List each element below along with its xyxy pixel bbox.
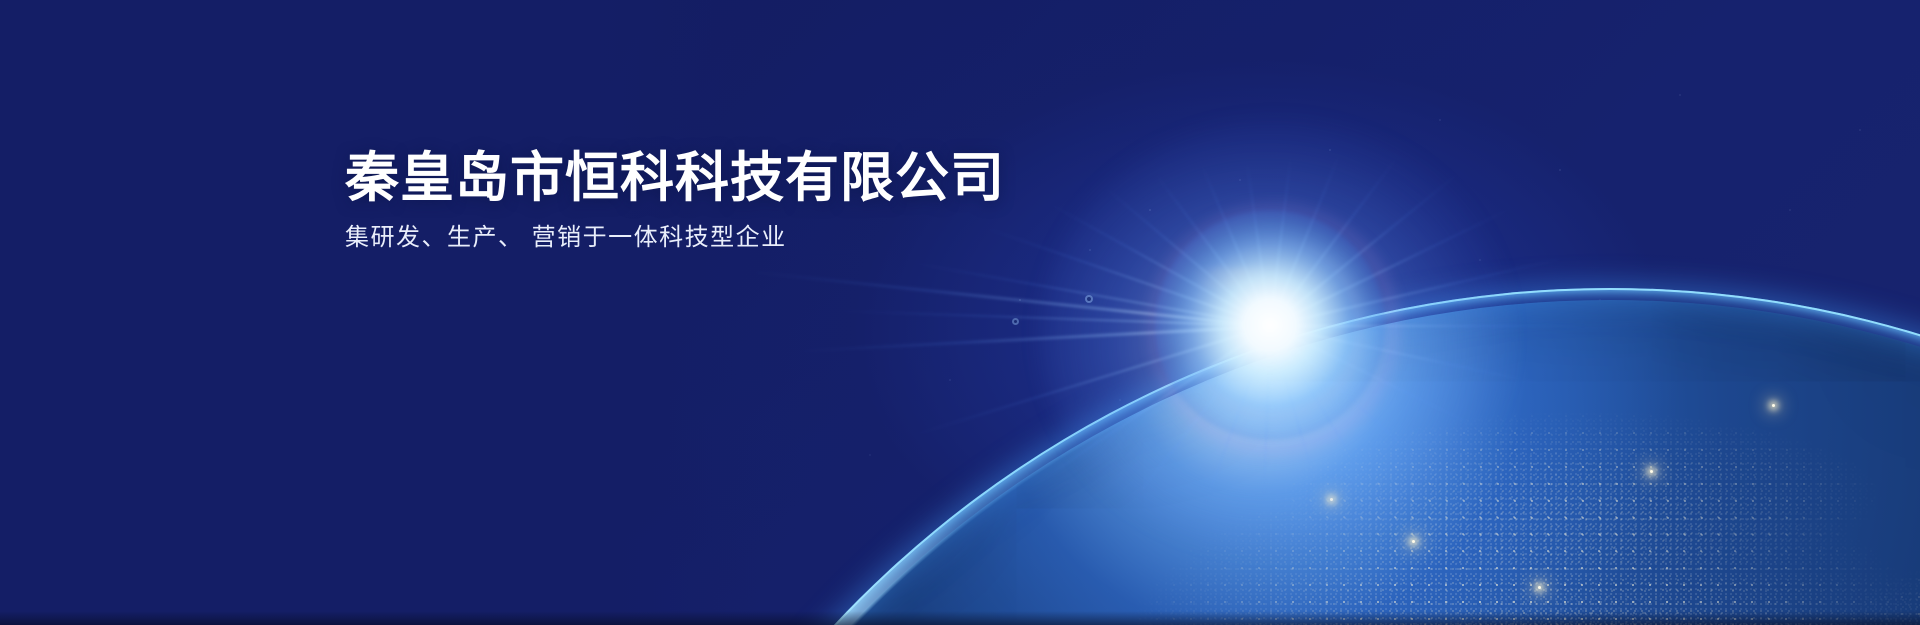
company-title: 秦皇岛市恒科科技有限公司: [345, 148, 1005, 208]
metro-light-flare: [1538, 586, 1541, 589]
lens-flare-ghost-dot: [1085, 295, 1093, 303]
lens-flare-ghost-dot: [1012, 318, 1019, 325]
metro-light-flare: [1650, 470, 1653, 473]
metro-light-flare: [1412, 540, 1415, 543]
sunrise-core: [1155, 210, 1385, 440]
bottom-vignette: [0, 611, 1920, 625]
hero-banner: 秦皇岛市恒科科技有限公司 集研发、生产、 营销于一体科技型企业: [0, 0, 1920, 625]
metro-light-flare: [1772, 404, 1775, 407]
banner-copy: 秦皇岛市恒科科技有限公司 集研发、生产、 营销于一体科技型企业: [345, 148, 1005, 254]
company-tagline: 集研发、生产、 营销于一体科技型企业: [345, 222, 1005, 253]
earth-globe-artwork: [0, 0, 1920, 625]
